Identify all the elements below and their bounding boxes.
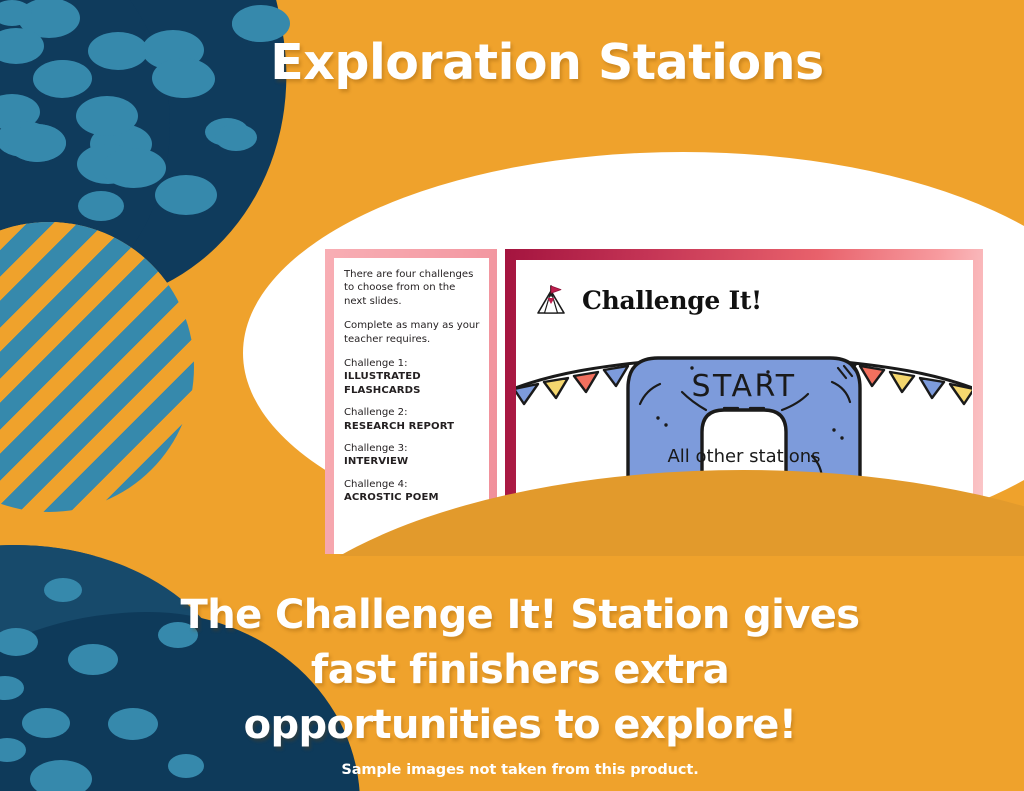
arch-start-label: START: [691, 369, 796, 404]
mountain-flag-icon: [534, 282, 570, 318]
slide-right-title-row: Challenge It!: [534, 282, 762, 318]
challenge-1-name: ILLUSTRATED FLASHCARDS: [344, 370, 480, 397]
arch-note: All other stations must be completed bef…: [657, 446, 832, 517]
poster-canvas: There are four challenges to choose from…: [0, 0, 1024, 791]
challenge-item-2: Challenge 2: RESEARCH REPORT: [344, 406, 480, 433]
arch-note-line-1: All other stations: [667, 446, 820, 467]
page-title: Exploration Stations: [0, 34, 1024, 91]
challenge-2-label: Challenge 2:: [344, 406, 480, 419]
challenge-1-label: Challenge 1:: [344, 357, 480, 370]
arch-note-line-3: before you begin.: [665, 496, 824, 517]
slide-preview-left[interactable]: There are four challenges to choose from…: [325, 249, 497, 554]
caption-line-3: opportunities to explore!: [150, 698, 890, 753]
challenge-3-label: Challenge 3:: [344, 442, 480, 455]
start-arch-svg: START: [516, 346, 972, 554]
caption-line-1: The Challenge It! Station gives: [150, 588, 890, 643]
challenge-2-name: RESEARCH REPORT: [344, 420, 480, 433]
slide-right-page: Challenge It!: [516, 260, 973, 554]
caption-block: The Challenge It! Station gives fast fin…: [150, 588, 890, 753]
slide-preview-right[interactable]: Challenge It!: [505, 249, 983, 554]
slide-left-page: There are four challenges to choose from…: [334, 258, 489, 554]
challenge-item-4: Challenge 4: ACROSTIC POEM: [344, 478, 480, 505]
slide-right-heading: Challenge It!: [582, 286, 762, 315]
challenge-3-name: INTERVIEW: [344, 455, 480, 468]
challenge-4-name: ACROSTIC POEM: [344, 491, 480, 504]
caption-line-2: fast finishers extra: [150, 643, 890, 698]
slide-left-intro-2: Complete as many as your teacher require…: [344, 319, 480, 346]
arch-note-line-2: must be completed: [657, 471, 832, 492]
challenge-item-3: Challenge 3: INTERVIEW: [344, 442, 480, 469]
disclaimer-text: Sample images not taken from this produc…: [150, 762, 890, 778]
challenge-item-1: Challenge 1: ILLUSTRATED FLASHCARDS: [344, 357, 480, 397]
slide-left-intro-1: There are four challenges to choose from…: [344, 268, 480, 308]
challenge-4-label: Challenge 4:: [344, 478, 480, 491]
start-arch-illustration: START: [516, 346, 973, 554]
